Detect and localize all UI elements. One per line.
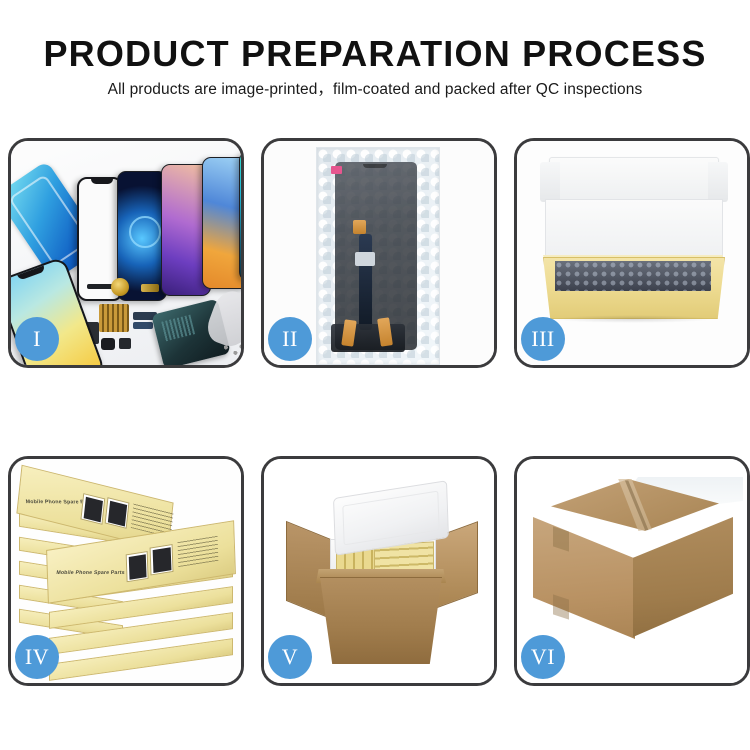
pink-label-icon bbox=[331, 166, 342, 174]
step-badge-4: IV bbox=[15, 635, 59, 679]
page-title: PRODUCT PREPARATION PROCESS bbox=[0, 34, 750, 74]
screws-icon bbox=[221, 342, 241, 360]
process-step-panel-5[interactable]: V bbox=[261, 456, 497, 686]
phone-teal-wallpaper-icon bbox=[239, 151, 241, 281]
carton-body bbox=[320, 577, 442, 664]
page-subtitle: All products are image-printed，film-coat… bbox=[0, 80, 750, 100]
box-product-photo bbox=[80, 493, 105, 525]
step-badge-1: I bbox=[15, 317, 59, 361]
connector-strip-icon bbox=[87, 284, 113, 289]
open-carton-icon bbox=[288, 483, 474, 663]
process-step-panel-1[interactable]: I bbox=[8, 138, 244, 368]
phone-orange-wallpaper-icon bbox=[202, 157, 241, 289]
process-step-panel-2[interactable]: II bbox=[261, 138, 497, 368]
box-product-photo bbox=[126, 551, 149, 582]
anti-static-foam-icon bbox=[555, 261, 711, 291]
page-header: PRODUCT PREPARATION PROCESS All products… bbox=[0, 34, 750, 100]
box-lid-icon bbox=[549, 157, 719, 203]
process-step-panel-6[interactable]: VI bbox=[514, 456, 750, 686]
box-shadow bbox=[553, 315, 713, 323]
box-product-photo bbox=[105, 497, 130, 529]
process-step-panel-4[interactable]: Mobile Phone Spare Parts Mobile Phone Sp… bbox=[8, 456, 244, 686]
speaker-module-icon bbox=[119, 338, 131, 349]
open-tray-box-icon bbox=[539, 157, 727, 333]
screw-grid-icon bbox=[99, 304, 129, 332]
bubble-wrap-bag-icon bbox=[316, 147, 440, 365]
tape-top-icon bbox=[353, 220, 366, 234]
process-step-panel-3[interactable]: III bbox=[514, 138, 750, 368]
wireless-charging-coil-icon bbox=[111, 278, 129, 296]
sealed-carton-icon bbox=[533, 479, 733, 655]
step-badge-5: V bbox=[268, 635, 312, 679]
step-badge-3: III bbox=[521, 317, 565, 361]
step-badge-2: II bbox=[268, 317, 312, 361]
process-steps-grid: I II bbox=[8, 138, 744, 686]
gold-connector-icon bbox=[141, 284, 159, 292]
step-badge-6: VI bbox=[521, 635, 565, 679]
lcd-flex-cable-icon bbox=[359, 234, 372, 330]
ribbon-cable-2-icon bbox=[133, 322, 153, 329]
carton-side-face bbox=[633, 517, 733, 637]
box-label-text: Mobile Phone Spare Parts bbox=[56, 570, 125, 576]
box-spec-lines bbox=[177, 535, 218, 567]
driver-ic-icon bbox=[355, 252, 375, 266]
camera-module-icon bbox=[101, 338, 115, 350]
carton-hand-hole bbox=[553, 594, 569, 619]
box-product-photo bbox=[150, 544, 174, 575]
carton-front-face bbox=[533, 517, 635, 639]
